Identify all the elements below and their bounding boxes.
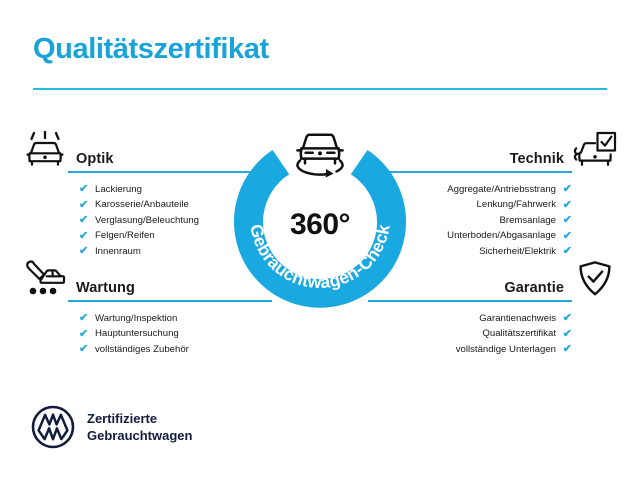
check-icon: ✔ bbox=[79, 246, 91, 257]
rotating-car-icon bbox=[286, 124, 354, 180]
shiny-car-front-icon bbox=[22, 130, 68, 170]
car-checkbox-icon bbox=[572, 130, 618, 170]
list-item: ✔Qualitätszertifikat bbox=[482, 327, 618, 343]
wrench-car-icon bbox=[22, 259, 68, 299]
footer-text: Zertifizierte Gebrauchtwagen bbox=[87, 410, 192, 444]
badge-360-gebrauchtwagen-check: Gebrauchtwagen-Check bbox=[222, 120, 418, 316]
list-item: ✔Lenkung/Fahrwerk bbox=[477, 198, 618, 214]
section-title-wartung: Wartung bbox=[68, 280, 135, 299]
list-item-label: Aggregate/Antriebsstrang bbox=[447, 185, 556, 195]
check-icon: ✔ bbox=[560, 215, 572, 226]
check-icon: ✔ bbox=[79, 215, 91, 226]
list-item-label: Bremsanlage bbox=[499, 216, 556, 226]
list-item-label: Karosserie/Anbauteile bbox=[95, 200, 189, 210]
list-item-label: Felgen/Reifen bbox=[95, 231, 155, 241]
check-icon: ✔ bbox=[79, 231, 91, 242]
check-icon: ✔ bbox=[560, 200, 572, 211]
check-icon: ✔ bbox=[560, 246, 572, 257]
page-title: Qualitätszertifikat bbox=[33, 33, 269, 66]
list-item: ✔Unterboden/Abgasanlage bbox=[447, 229, 618, 245]
vw-logo bbox=[31, 405, 75, 449]
check-icon: ✔ bbox=[79, 344, 91, 355]
list-item-label: Innenraum bbox=[95, 247, 141, 257]
list-item-label: vollständiges Zubehör bbox=[95, 345, 189, 355]
check-icon: ✔ bbox=[79, 313, 91, 324]
check-icon: ✔ bbox=[79, 200, 91, 211]
certificate-page: Qualitätszertifikat bbox=[0, 0, 640, 480]
title-divider bbox=[33, 88, 607, 90]
list-item: ✔vollständiges Zubehör bbox=[79, 342, 272, 358]
list-item-label: Sicherheit/Elektrik bbox=[479, 247, 556, 257]
section-title-optik: Optik bbox=[68, 151, 114, 170]
check-icon: ✔ bbox=[560, 344, 572, 355]
vw-certified-lockup: Zertifizierte Gebrauchtwagen bbox=[31, 405, 192, 449]
footer-line-2: Gebrauchtwagen bbox=[87, 427, 192, 444]
list-item-label: Hauptuntersuchung bbox=[95, 329, 179, 339]
check-icon: ✔ bbox=[560, 184, 572, 195]
check-icon: ✔ bbox=[79, 184, 91, 195]
list-item-label: Garantienachweis bbox=[479, 314, 556, 324]
list-item: ✔Garantienachweis bbox=[479, 311, 618, 327]
section-title-garantie: Garantie bbox=[504, 280, 572, 299]
list-item: ✔Aggregate/Antriebsstrang bbox=[447, 182, 618, 198]
list-item: ✔Sicherheit/Elektrik bbox=[479, 244, 618, 260]
section-title-technik: Technik bbox=[510, 151, 572, 170]
list-item: ✔Bremsanlage bbox=[499, 213, 618, 229]
list-item: ✔Hauptuntersuchung bbox=[79, 327, 272, 343]
check-icon: ✔ bbox=[560, 313, 572, 324]
list-item-label: Lackierung bbox=[95, 185, 142, 195]
list-item: ✔vollständige Unterlagen bbox=[456, 342, 618, 358]
check-icon: ✔ bbox=[560, 231, 572, 242]
check-icon: ✔ bbox=[79, 329, 91, 340]
list-item-label: Unterboden/Abgasanlage bbox=[447, 231, 556, 241]
footer-line-1: Zertifizierte bbox=[87, 410, 192, 427]
check-icon: ✔ bbox=[560, 329, 572, 340]
list-item-label: Lenkung/Fahrwerk bbox=[477, 200, 556, 210]
badge-degrees-label: 360° bbox=[222, 208, 418, 242]
shield-check-icon bbox=[572, 259, 618, 299]
list-item-label: Qualitätszertifikat bbox=[482, 329, 556, 339]
list-item-label: vollständige Unterlagen bbox=[456, 345, 556, 355]
list-item-label: Verglasung/Beleuchtung bbox=[95, 216, 199, 226]
list-item-label: Wartung/Inspektion bbox=[95, 314, 177, 324]
